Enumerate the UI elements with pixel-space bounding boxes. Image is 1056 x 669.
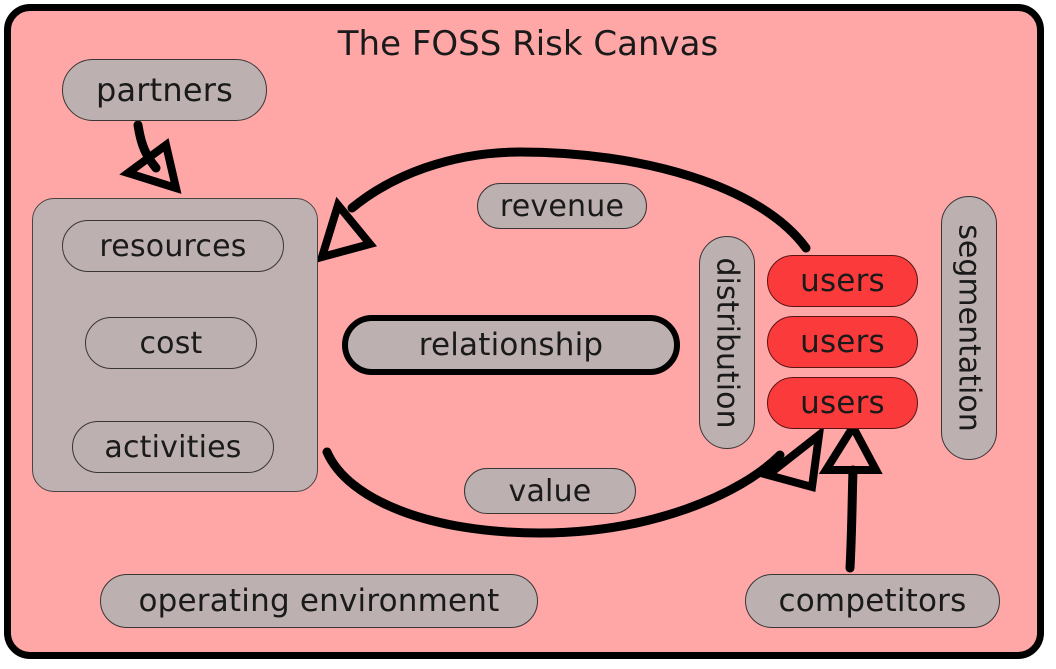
block-segmentation-label: segmentation: [952, 224, 987, 431]
block-users-3[interactable]: users: [767, 377, 918, 429]
block-activities[interactable]: activities: [72, 421, 274, 473]
block-operating-environment[interactable]: operating environment: [100, 574, 538, 628]
block-competitors[interactable]: competitors: [745, 574, 1000, 628]
block-revenue[interactable]: revenue: [477, 183, 647, 229]
block-distribution[interactable]: distribution: [699, 236, 755, 449]
block-partners[interactable]: partners: [62, 59, 267, 121]
page-title: The FOSS Risk Canvas: [0, 24, 1056, 64]
block-users-1[interactable]: users: [767, 255, 918, 307]
block-resources[interactable]: resources: [62, 220, 284, 272]
block-relationship[interactable]: relationship: [342, 315, 680, 375]
block-value[interactable]: value: [464, 468, 636, 514]
block-distribution-label: distribution: [710, 257, 745, 428]
block-segmentation[interactable]: segmentation: [941, 196, 997, 460]
block-cost[interactable]: cost: [85, 317, 257, 369]
block-users-2[interactable]: users: [767, 316, 918, 368]
foss-risk-canvas: The FOSS Risk Canvas partners resources …: [0, 0, 1056, 669]
